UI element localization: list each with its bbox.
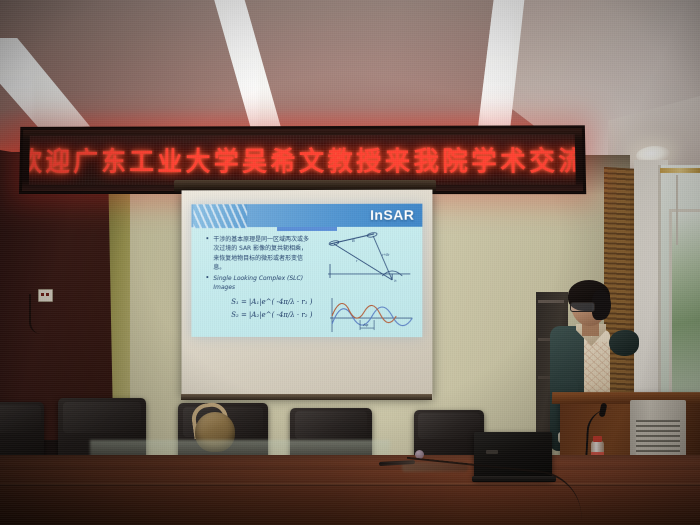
- plot-label: Δφ: [362, 322, 369, 327]
- svg-text:B: B: [352, 238, 355, 243]
- bullet-dot-icon: [206, 276, 208, 278]
- slide-bullet-1: 干涉的基本原理是同一区域两次或多次过境的 SAR 影像的复共轭相乘，来恢复地物目…: [213, 235, 309, 272]
- laptop-logo-icon: [486, 450, 498, 454]
- insar-geometry-diagram: B r r+δr h: [322, 230, 418, 294]
- window-mullion: [676, 175, 678, 245]
- slide-header-decoration-icon: [193, 204, 247, 229]
- svg-text:r+δr: r+δr: [382, 252, 390, 257]
- svg-text:h: h: [394, 278, 397, 283]
- led-banner-text: 欢迎广东工业大学吴希文教授来我院学术交流: [29, 140, 576, 179]
- projection-screen: InSAR 干涉的基本原理是同一区域两次或多次过境的 SAR 影像的复共轭相乘，…: [182, 190, 433, 399]
- wall-cord: [29, 294, 41, 334]
- slide-equations: S₁ = |A₁|e^( -4π/λ · r₁ ) S₂ = |A₂|e^( -…: [231, 296, 312, 322]
- table-row[interactable]: [0, 402, 44, 458]
- slide-title: InSAR: [370, 207, 414, 223]
- glasses-icon: [570, 302, 595, 312]
- slide-bullet-1-text: 干涉的基本原理是同一区域两次或多次过境的 SAR 影像的复共轭相乘，来恢复地物目…: [213, 236, 309, 271]
- window-glass-pane: [669, 209, 700, 415]
- slide-equation-2: S₂ = |A₂|e^( -4π/λ · r₂ ): [231, 309, 312, 322]
- slide-bullet-2: Single Looking Complex (SLC) Images: [213, 274, 313, 293]
- slide-equation-1: S₁ = |A₁|e^( -4π/λ · r₁ ): [231, 296, 312, 309]
- presentation-slide: InSAR 干涉的基本原理是同一区域两次或多次过境的 SAR 影像的复共轭相乘，…: [191, 204, 422, 337]
- lecture-hall-photo: 欢迎广东工业大学吴希文教授来我院学术交流 InSAR 干涉的基本原理是同一区域两…: [0, 0, 700, 525]
- led-banner-screen: 欢迎广东工业大学吴希文教授来我院学术交流: [29, 134, 576, 185]
- speaker-shoulder: [609, 330, 639, 356]
- slide-bullet-2-text: Single Looking Complex (SLC) Images: [213, 275, 303, 291]
- bullet-dot-icon: [206, 237, 208, 239]
- window-curtain-rail: [660, 168, 700, 173]
- insar-phase-plot: Δφ: [322, 294, 418, 336]
- projection-screen-weight-bar: [181, 394, 432, 400]
- table-shadow-overlay: [0, 455, 470, 525]
